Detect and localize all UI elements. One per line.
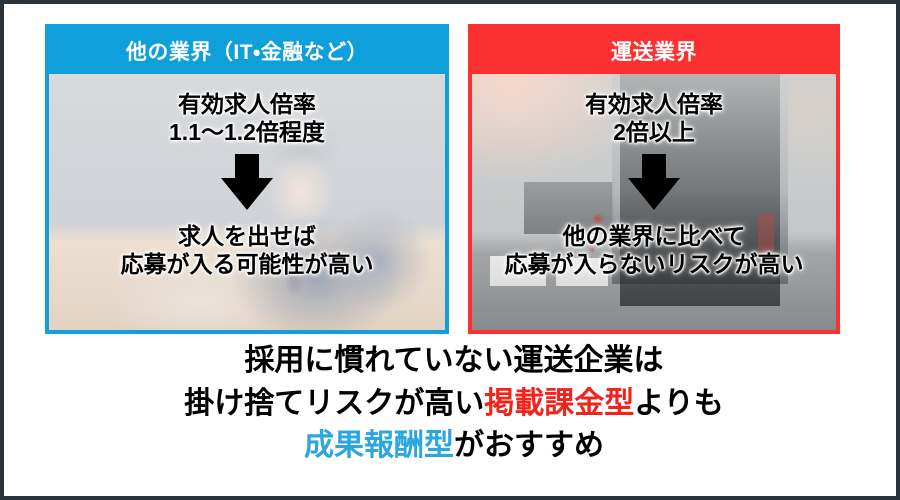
- down-arrow-icon: [628, 154, 680, 210]
- card-left-stat-value: 1.1〜1.2倍程度: [169, 118, 325, 146]
- down-arrow-shaft: [642, 154, 666, 180]
- card-other-industries: 他の業界（IT・金融など） 有効求人倍率 1.1〜1.2倍程度: [45, 24, 449, 334]
- down-arrow-shaft: [235, 154, 259, 180]
- card-right-result: 他の業界に比べて 応募が入らないリスクが高い: [505, 222, 804, 278]
- card-right-stat-label: 有効求人倍率: [585, 90, 723, 118]
- card-left-arrow-wrap: [221, 154, 273, 210]
- card-transport-industry: 運送業界 有効求人倍率 2倍以上 他の: [468, 24, 840, 334]
- card-left-stat: 有効求人倍率 1.1〜1.2倍程度: [169, 90, 325, 146]
- down-arrow-head: [628, 178, 680, 210]
- card-left-result: 求人を出せば 応募が入る可能性が高い: [121, 222, 374, 278]
- card-left-stat-label: 有効求人倍率: [169, 90, 325, 118]
- card-right-result-line1: 他の業界に比べて: [505, 222, 804, 250]
- caption-line-2: 掛け捨てリスクが高い掲載課金型よりも: [4, 383, 900, 426]
- caption-line-2-suffix: よりも: [634, 387, 723, 420]
- card-right-result-line2: 応募が入らないリスクが高い: [505, 250, 804, 278]
- card-left-result-line1: 求人を出せば: [121, 222, 374, 250]
- card-right-stat-value: 2倍以上: [585, 118, 723, 146]
- comparison-cards-row: 他の業界（IT・金融など） 有効求人倍率 1.1〜1.2倍程度: [4, 4, 900, 344]
- card-left-body: 有効求人倍率 1.1〜1.2倍程度 求人を出せば 応募が入る可能性が高い: [49, 74, 445, 330]
- card-left-result-line2: 応募が入る可能性が高い: [121, 250, 374, 278]
- caption-line-2-prefix: 掛け捨てリスクが高い: [184, 387, 484, 420]
- caption-highlight-pay-per-result: 成果報酬型: [304, 429, 454, 462]
- down-arrow-head: [221, 178, 273, 210]
- summary-caption: 採用に慣れていない運送企業は 掛け捨てリスクが高い掲載課金型よりも 成果報酬型が…: [4, 340, 900, 468]
- caption-line-1: 採用に慣れていない運送企業は: [4, 340, 900, 383]
- caption-highlight-pay-per-post: 掲載課金型: [484, 387, 634, 420]
- card-right-stat: 有効求人倍率 2倍以上: [585, 90, 723, 146]
- card-left-overlay: 有効求人倍率 1.1〜1.2倍程度 求人を出せば 応募が入る可能性が高い: [49, 74, 445, 330]
- card-left-header: 他の業界（IT・金融など）: [49, 28, 445, 74]
- card-right-overlay: 有効求人倍率 2倍以上 他の業界に比べて 応募が入らないリスクが高い: [472, 74, 836, 330]
- card-right-body: 有効求人倍率 2倍以上 他の業界に比べて 応募が入らないリスクが高い: [472, 74, 836, 330]
- caption-line-3-suffix: がおすすめ: [454, 429, 604, 462]
- card-right-arrow-wrap: [628, 154, 680, 210]
- comparison-infographic: 他の業界（IT・金融など） 有効求人倍率 1.1〜1.2倍程度: [0, 0, 900, 500]
- card-right-header: 運送業界: [472, 28, 836, 74]
- down-arrow-icon: [221, 154, 273, 210]
- caption-line-3: 成果報酬型がおすすめ: [4, 425, 900, 468]
